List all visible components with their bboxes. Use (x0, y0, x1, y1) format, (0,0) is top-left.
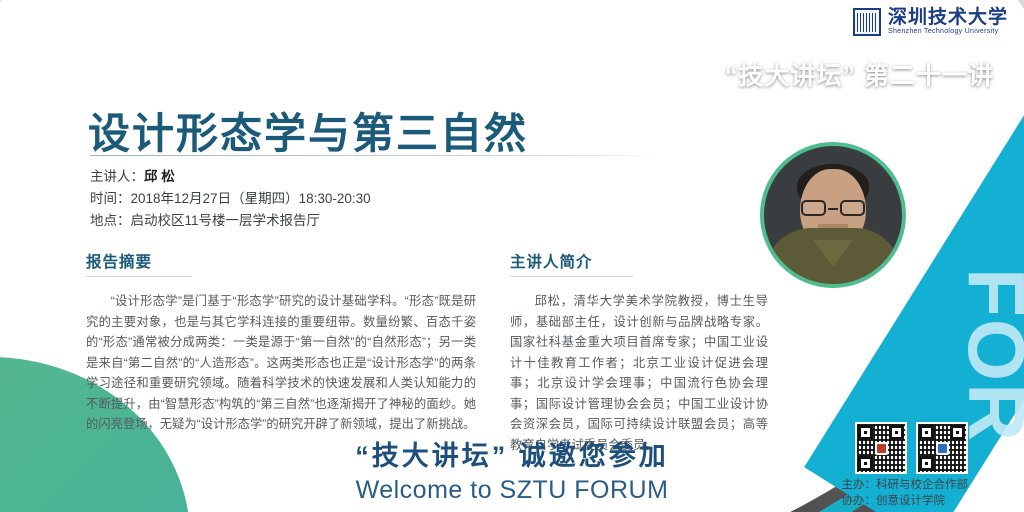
forum-session-line: “技大讲坛” 第二十一讲 (725, 56, 994, 92)
vertical-wordmark-forum: FOR (958, 268, 1024, 443)
university-logo[interactable]: 深圳技术大学 Shenzhen Technology University (853, 8, 1008, 36)
abstract-heading: 报告摘要 (86, 250, 192, 277)
meta-speaker-row: 主讲人：邱 松 (90, 166, 371, 188)
credit-host: 主办：科研与校企合作部 (842, 477, 969, 493)
logo-name-cn: 深圳技术大学 (888, 8, 1008, 28)
qr-code-red[interactable] (855, 422, 907, 474)
speaker-bio-body: 邱松，清华大学美术学院教授，博士生导师，基础部主任，设计创新与品牌战略专家。国家… (510, 291, 768, 455)
meta-speaker-label: 主讲人： (90, 169, 144, 184)
logo-name-en: Shenzhen Technology University (888, 28, 1008, 35)
page-title: 设计形态学与第三自然 (88, 100, 528, 161)
qr-code-group (855, 422, 968, 474)
logo-text-block: 深圳技术大学 Shenzhen Technology University (888, 8, 1008, 35)
abstract-body: “设计形态学”是门基于“形态学”研究的设计基础学科。“形态”既是研究的主要对象，… (86, 291, 476, 435)
meta-venue: 地点：启动校区11号楼一层学术报告厅 (90, 210, 371, 232)
poster-canvas: SZTU FOR 深圳技术大学 Shenzhen Technology Univ… (0, 0, 1024, 512)
credit-cohost: 协办：创意设计学院 (842, 493, 969, 509)
meta-time: 时间：2018年12月27日（星期四）18:30-20:30 (90, 188, 371, 210)
speaker-bio-heading: 主讲人简介 (510, 250, 633, 277)
sztu-emblem-icon (853, 8, 881, 36)
speaker-portrait (760, 142, 906, 288)
abstract-section: 报告摘要 “设计形态学”是门基于“形态学”研究的设计基础学科。“形态”既是研究的… (86, 250, 476, 435)
speaker-bio-section: 主讲人简介 邱松，清华大学美术学院教授，博士生导师，基础部主任，设计创新与品牌战… (510, 250, 768, 455)
glasses-bridge (828, 208, 838, 210)
organizer-credits: 主办：科研与校企合作部 协办：创意设计学院 (842, 477, 969, 509)
meta-speaker-name: 邱 松 (144, 169, 175, 184)
event-meta: 主讲人：邱 松 时间：2018年12月27日（星期四）18:30-20:30 地… (90, 166, 371, 232)
title-divider (90, 155, 660, 156)
qr-code-blue[interactable] (916, 422, 968, 474)
